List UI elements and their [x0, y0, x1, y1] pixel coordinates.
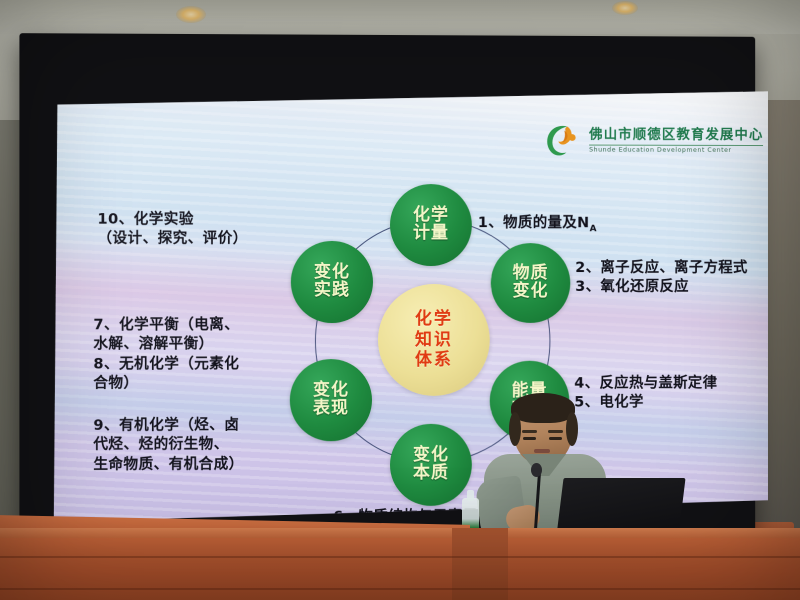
microphone-icon	[531, 463, 542, 477]
leaf-logo-icon	[540, 119, 582, 161]
diagram-node-upper-left: 变化 实践	[291, 241, 373, 323]
diagram-node-upper-right: 物质 变化	[491, 243, 571, 323]
lecture-hall-photo: 佛山市顺德区教育发展中心 Shunde Education Developmen…	[0, 0, 800, 600]
node-line-2: 计量	[413, 225, 449, 243]
logo-title-cn: 佛山市顺德区教育发展中心	[589, 128, 763, 144]
logo-title-en: Shunde Education Development Center	[589, 144, 763, 153]
node-line-2: 表现	[313, 400, 349, 418]
diagram-node-top: 化学 计量	[390, 184, 472, 266]
slide-text-item-2-3: 2、离子反应、离子方程式 3、氧化还原反应	[575, 259, 747, 298]
desk-edge-line	[0, 556, 800, 558]
presentation-slide: 佛山市顺德区教育发展中心 Shunde Education Developmen…	[51, 80, 768, 526]
presenter-mouth	[534, 449, 550, 453]
desk-surface	[0, 528, 800, 538]
slide-text-item-7-8: 7、化学平衡（电离、 水解、溶解平衡） 8、无机化学（元素化 合物）	[93, 316, 239, 394]
desk-edge-line	[0, 588, 800, 590]
diagram-node-bottom: 变化 本质	[390, 424, 472, 506]
presenter-eye	[549, 437, 562, 440]
center-line-1: 化学	[415, 309, 453, 330]
ceiling	[0, 0, 800, 34]
item1-text: 1、物质的量及N	[478, 216, 590, 232]
projection-screen-frame: 佛山市顺德区教育发展中心 Shunde Education Developmen…	[19, 33, 755, 535]
slide-text-item-1: 1、物质的量及NA	[478, 195, 597, 235]
slide-text-item-10: 10、化学实验 （设计、探究、评价）	[97, 211, 247, 250]
diagram-center-node: 化学 知识 体系	[378, 284, 490, 396]
center-line-3: 体系	[415, 350, 453, 371]
water-bottle-neck	[467, 490, 474, 501]
slide-text-item-9: 9、有机化学（烃、卤 代烃、烃的衍生物、 生命物质、有机合成）	[93, 416, 243, 475]
projection-screen: 佛山市顺德区教育发展中心 Shunde Education Developmen…	[51, 80, 768, 526]
diagram-node-lower-left: 变化 表现	[290, 359, 372, 441]
presenter-hair-side	[566, 412, 578, 446]
node-line-2: 实践	[314, 282, 350, 300]
presenter-brow	[548, 430, 563, 433]
presenter-eye	[523, 437, 536, 440]
center-line-2: 知识	[415, 330, 453, 351]
ceiling-light-icon	[612, 1, 638, 15]
node-line-2: 本质	[413, 465, 449, 483]
ceiling-light-icon	[176, 6, 206, 23]
node-line-2: 变化	[513, 283, 549, 301]
presenter-hair	[511, 393, 575, 423]
organization-logo: 佛山市顺德区教育发展中心 Shunde Education Developmen…	[540, 119, 763, 161]
item1-subscript: A	[590, 225, 597, 235]
presenter-brow	[522, 430, 537, 433]
presenter-hair-side	[509, 412, 521, 446]
